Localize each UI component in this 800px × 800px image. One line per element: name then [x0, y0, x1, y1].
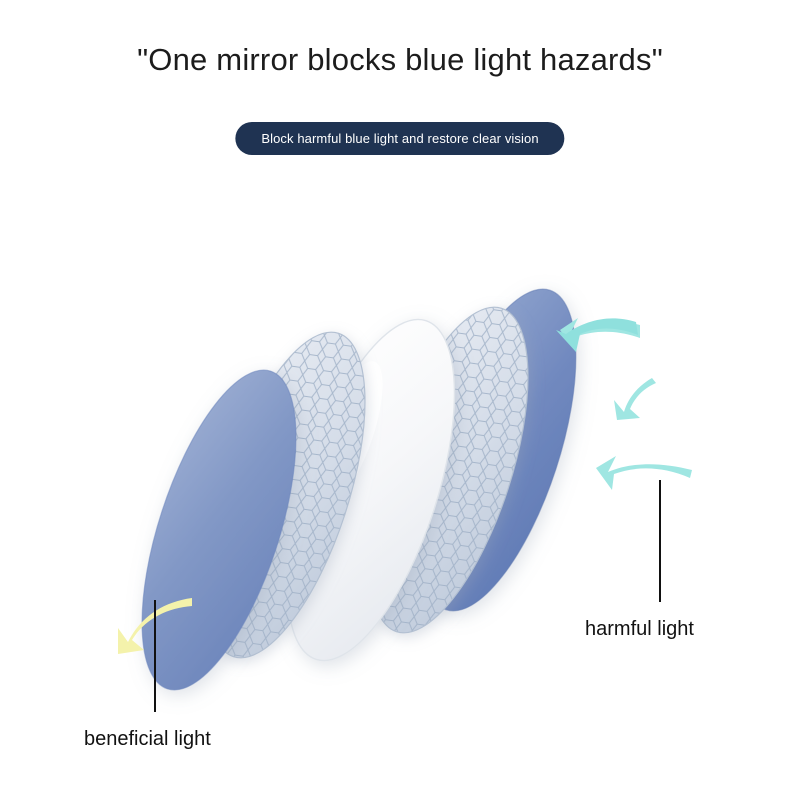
callout-label-harmful: harmful light [585, 618, 694, 641]
harmful-light-arrow-bottom [596, 456, 692, 490]
harmful-light-arrow-middle [614, 378, 656, 420]
callout-label-beneficial: beneficial light [84, 728, 211, 751]
lens-layers-diagram [0, 0, 800, 800]
product-infographic: "One mirror blocks blue light hazards" B… [0, 0, 800, 800]
